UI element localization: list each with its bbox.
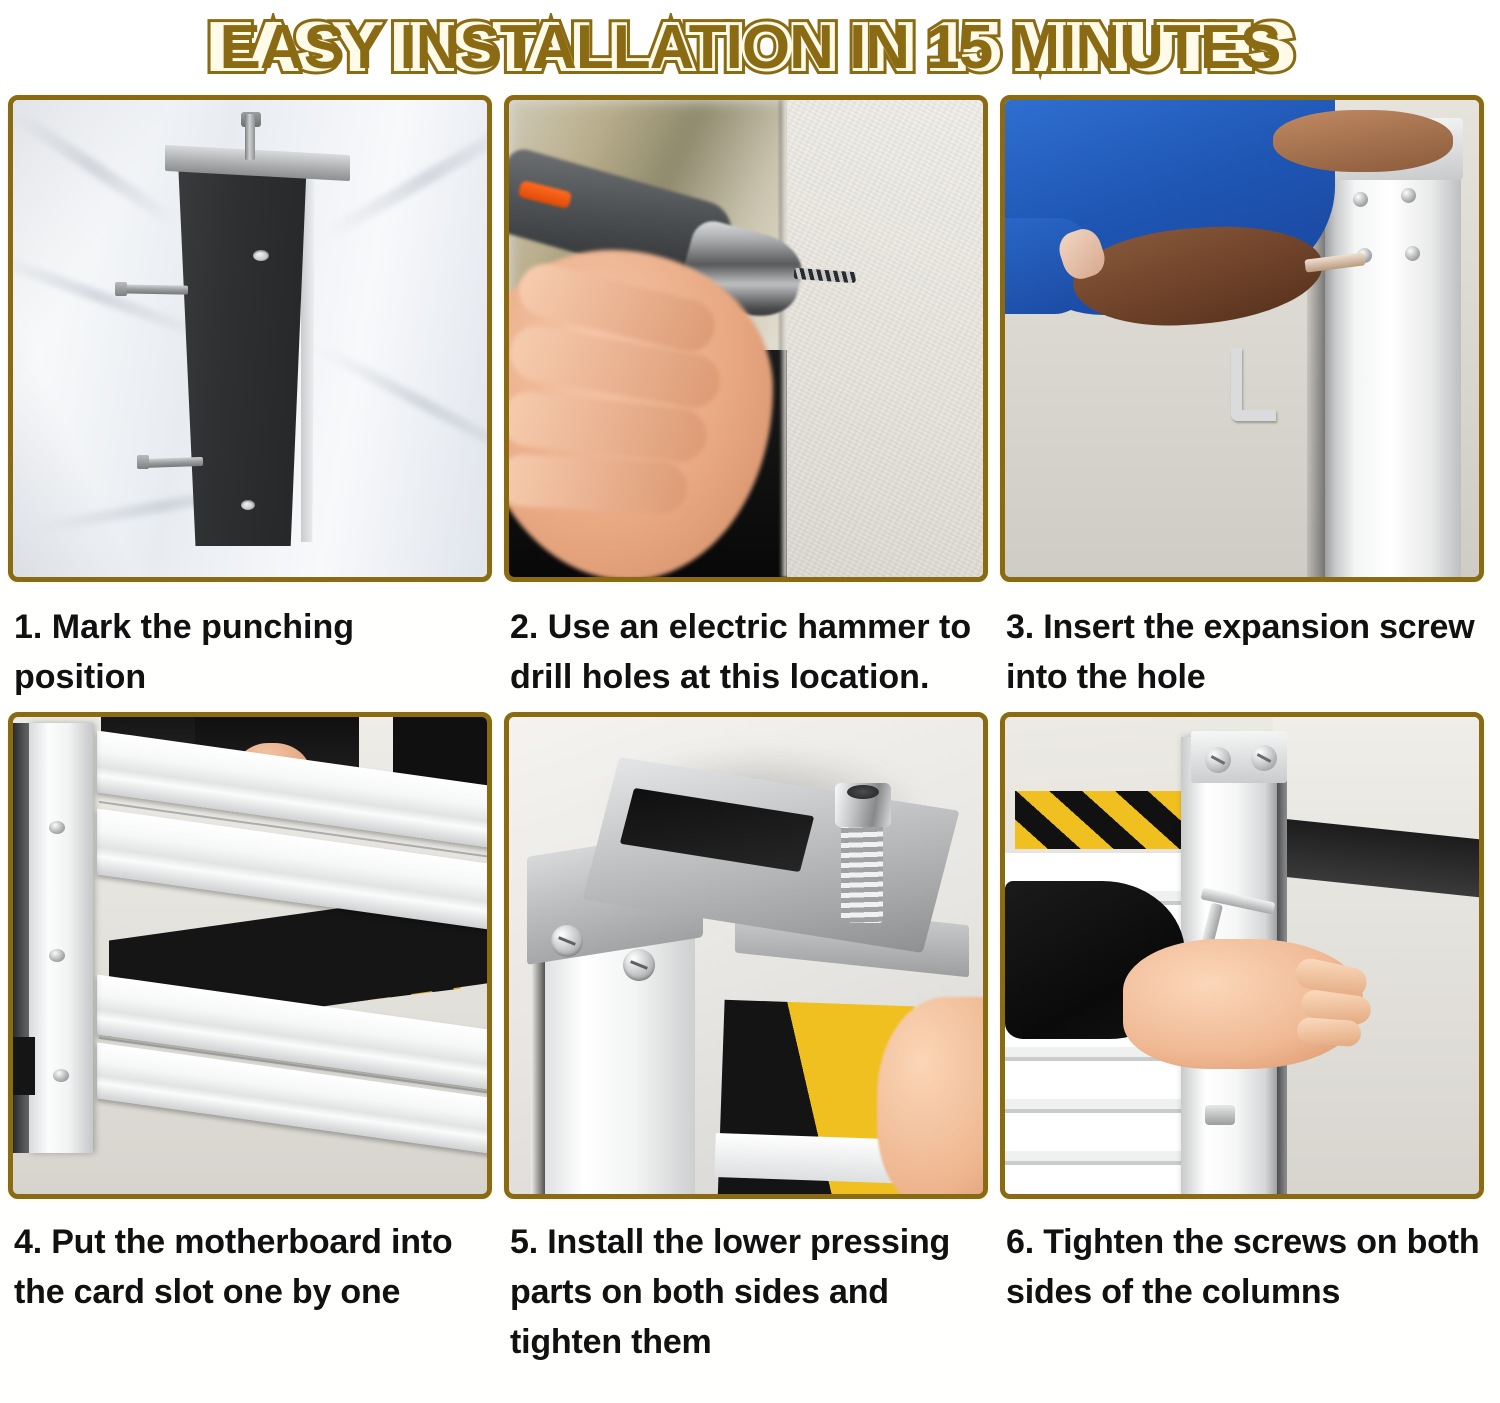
page-title: EASY INSTALLATION IN 15 MINUTES EASY INS… <box>220 17 1281 79</box>
step-3-caption: 3. Insert the expansion screw into the h… <box>1000 582 1490 712</box>
step-3-photo-frame <box>1000 95 1484 582</box>
bracket-screw <box>551 925 583 957</box>
wall-corner-edge <box>779 100 787 577</box>
step-card-6: 6. Tighten the screws on both sides of t… <box>1000 712 1490 1367</box>
expansion-stud-upper-cap <box>115 282 127 296</box>
expansion-stud-upper <box>118 284 188 294</box>
lower-column-screw <box>1205 1105 1235 1125</box>
finger <box>1296 1017 1362 1047</box>
finger <box>509 453 688 515</box>
floor-edge-dark <box>13 1037 35 1095</box>
header-banner: EASY INSTALLATION IN 15 MINUTES EASY INS… <box>0 0 1500 95</box>
step-3-photo-insert-expansion-screw <box>1005 100 1479 577</box>
step-card-4: 4. Put the motherboard into the card slo… <box>8 712 498 1367</box>
hazard-stripe-tape <box>1015 791 1193 849</box>
post-screw <box>49 821 65 834</box>
step-1-photo-mark-punching-position <box>13 100 487 577</box>
slotted-vertical-post <box>29 723 93 1153</box>
step-4-photo-frame <box>8 712 492 1199</box>
column-cap-screw <box>1251 745 1277 771</box>
top-bolt-shaft <box>245 114 255 160</box>
column-screw <box>1353 192 1368 207</box>
mounting-hole-upper <box>253 250 269 261</box>
step-1-photo-frame <box>8 95 492 582</box>
column-cap-screw <box>1205 747 1231 773</box>
post-screw <box>53 1069 69 1082</box>
step-4-photo-insert-boards <box>13 717 487 1194</box>
expansion-stud-lower-cap <box>137 455 149 469</box>
upper-hand <box>1273 110 1453 172</box>
post-screw <box>49 949 65 962</box>
step-2-photo-frame <box>504 95 988 582</box>
step-2-photo-drill-holes <box>509 100 983 577</box>
steps-grid: 1. Mark the punching position 2. Use an … <box>0 95 1500 1367</box>
column-screw <box>1401 188 1416 203</box>
step-5-photo-lower-pressing-parts <box>509 717 983 1194</box>
threaded-bolt-shaft <box>841 813 883 923</box>
step-1-caption: 1. Mark the punching position <box>8 582 498 712</box>
textured-white-wall <box>787 100 983 577</box>
step-card-1: 1. Mark the punching position <box>8 95 498 712</box>
mounting-hole-lower <box>241 500 255 510</box>
step-5-caption: 5. Install the lower pressing parts on b… <box>504 1199 994 1367</box>
step-2-caption: 2. Use an electric hammer to drill holes… <box>504 582 994 712</box>
bolt-head-socket <box>847 785 879 799</box>
step-4-caption: 4. Put the motherboard into the card slo… <box>8 1199 498 1329</box>
allen-wrench-on-floor <box>1231 348 1276 421</box>
step-6-photo-tighten-screws <box>1005 717 1479 1194</box>
step-5-photo-frame <box>504 712 988 1199</box>
step-6-caption: 6. Tighten the screws on both sides of t… <box>1000 1199 1490 1329</box>
step-6-photo-frame <box>1000 712 1484 1199</box>
column-screw <box>1405 246 1420 261</box>
bracket-screw <box>623 949 655 981</box>
step-card-3: 3. Insert the expansion screw into the h… <box>1000 95 1490 712</box>
step-card-5: 5. Install the lower pressing parts on b… <box>504 712 994 1367</box>
step-card-2: 2. Use an electric hammer to drill holes… <box>504 95 994 712</box>
white-column <box>1325 128 1461 577</box>
page-title-fill: EASY INSTALLATION IN 15 MINUTES <box>220 13 1281 82</box>
